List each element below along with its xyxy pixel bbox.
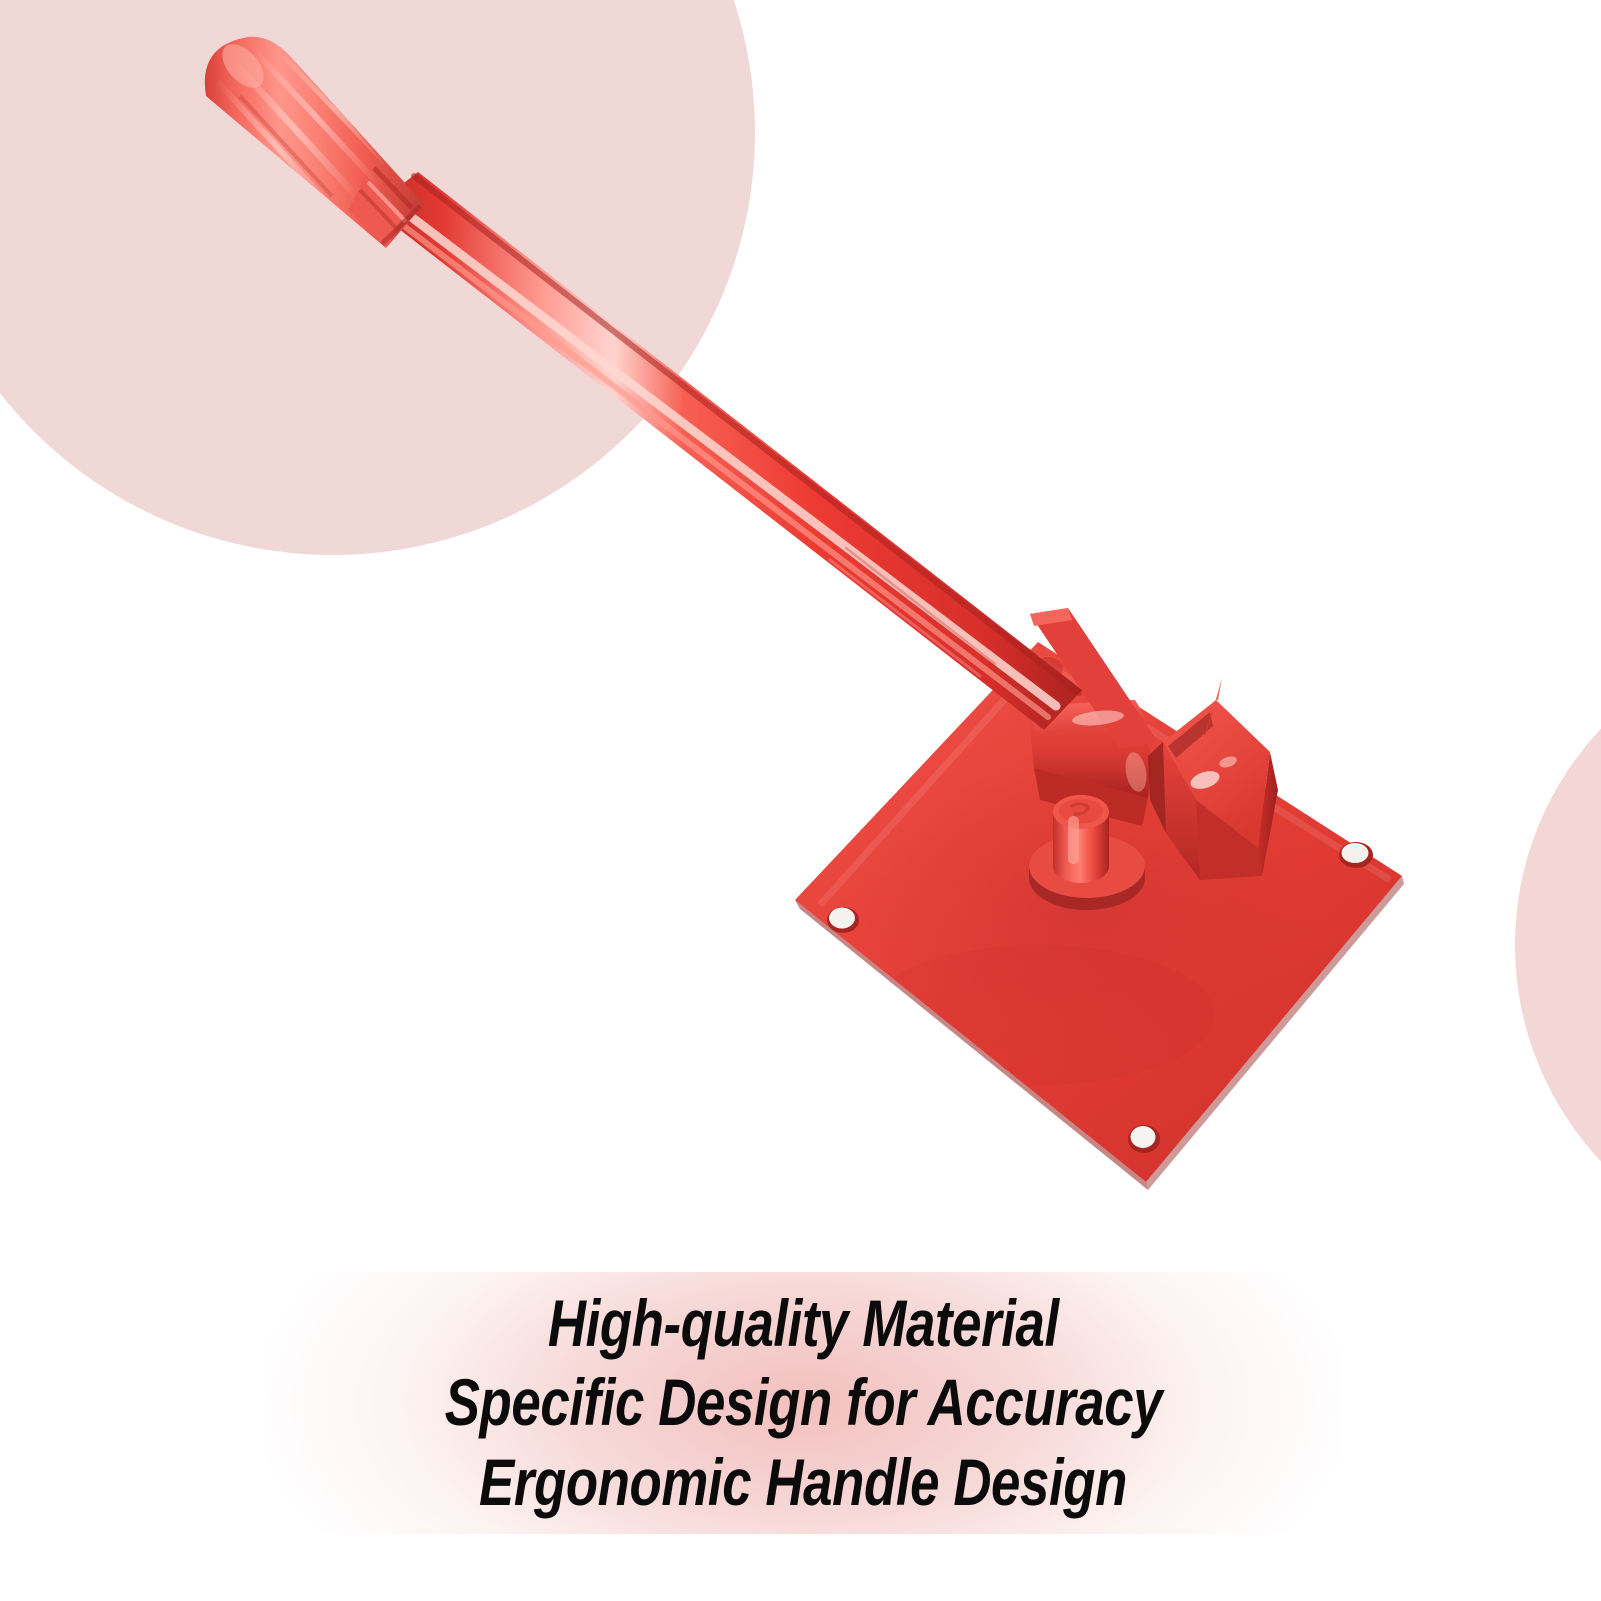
- mounting-hole: [827, 907, 859, 933]
- feature-line-2: Specific Design for Accuracy: [444, 1364, 1162, 1441]
- product-feature-image: High-quality Material Specific Design fo…: [0, 0, 1601, 1601]
- feature-line-3: Ergonomic Handle Design: [479, 1444, 1127, 1521]
- feature-text-band: High-quality Material Specific Design fo…: [265, 1272, 1341, 1534]
- mounting-hole: [1339, 842, 1373, 868]
- mounting-hole: [1128, 1125, 1160, 1153]
- lever-arm: [372, 172, 1082, 730]
- handle-grip: [205, 37, 424, 248]
- feature-line-1: High-quality Material: [548, 1285, 1059, 1362]
